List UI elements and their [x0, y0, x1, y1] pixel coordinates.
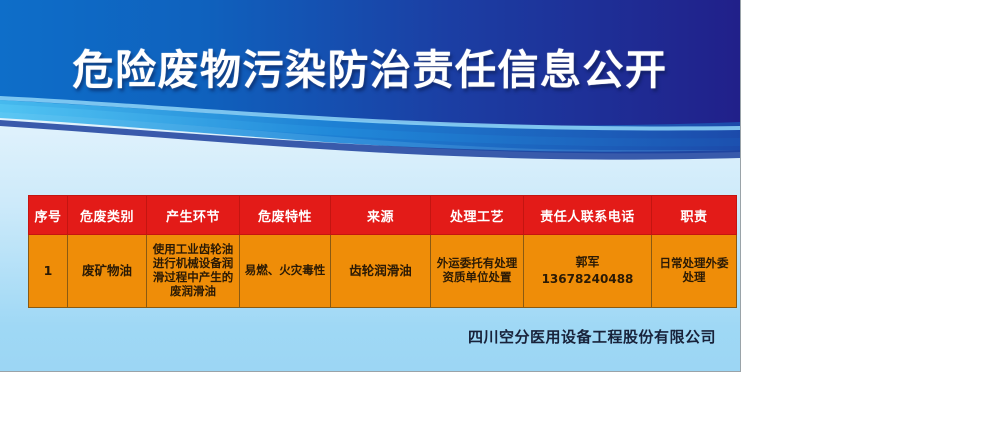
- cell-stage: 使用工业齿轮油进行机械设备润滑过程中产生的废润滑油: [147, 235, 240, 308]
- cell-process: 外运委托有处理资质单位处置: [431, 235, 524, 308]
- table-body: 1 废矿物油 使用工业齿轮油进行机械设备润滑过程中产生的废润滑油 易燃、火灾毒性…: [29, 235, 737, 308]
- hazardous-waste-table: 序号 危废类别 产生环节 危废特性 来源 处理工艺 责任人联系电话 职责 1 废…: [28, 195, 712, 308]
- table-head: 序号 危废类别 产生环节 危废特性 来源 处理工艺 责任人联系电话 职责: [29, 196, 737, 235]
- col-header-index: 序号: [29, 196, 68, 235]
- cell-contact: 郭军 13678240488: [524, 235, 652, 308]
- cell-category: 废矿物油: [68, 235, 147, 308]
- col-header-characteristic: 危废特性: [240, 196, 331, 235]
- cell-index: 1: [29, 235, 68, 308]
- company-name: 四川空分医用设备工程股份有限公司: [0, 326, 716, 347]
- cell-source: 齿轮润滑油: [331, 235, 431, 308]
- poster-banner: 危险废物污染防治责任信息公开: [0, 0, 740, 160]
- contact-name: 郭军: [527, 254, 648, 271]
- table-header-row: 序号 危废类别 产生环节 危废特性 来源 处理工艺 责任人联系电话 职责: [29, 196, 737, 235]
- information-poster: 危险废物污染防治责任信息公开 序号 危废类别 产生环节 危废特性 来源 处理工艺…: [0, 0, 741, 372]
- col-header-process: 处理工艺: [431, 196, 524, 235]
- table: 序号 危废类别 产生环节 危废特性 来源 处理工艺 责任人联系电话 职责 1 废…: [28, 195, 737, 308]
- col-header-stage: 产生环节: [147, 196, 240, 235]
- cell-characteristic: 易燃、火灾毒性: [240, 235, 331, 308]
- table-row: 1 废矿物油 使用工业齿轮油进行机械设备润滑过程中产生的废润滑油 易燃、火灾毒性…: [29, 235, 737, 308]
- cell-duty: 日常处理外委处理: [652, 235, 737, 308]
- col-header-source: 来源: [331, 196, 431, 235]
- col-header-contact: 责任人联系电话: [524, 196, 652, 235]
- col-header-duty: 职责: [652, 196, 737, 235]
- banner-graphic: [0, 0, 740, 160]
- contact-phone: 13678240488: [527, 271, 648, 288]
- col-header-category: 危废类别: [68, 196, 147, 235]
